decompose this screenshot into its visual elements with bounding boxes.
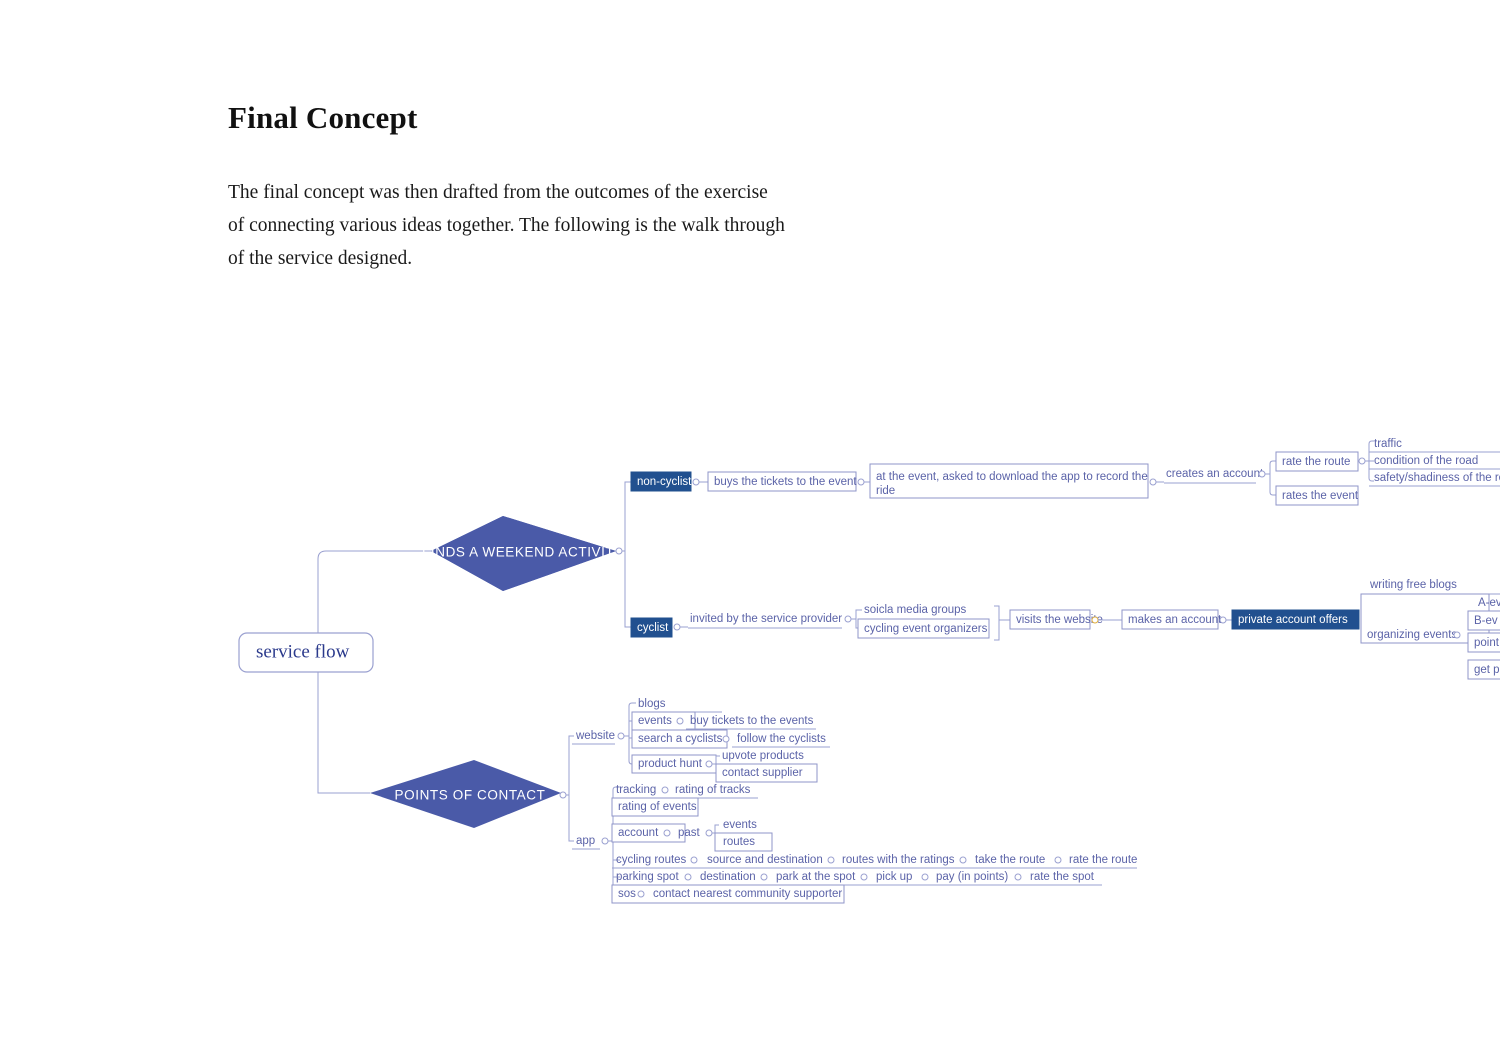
node-account[interactable]: account	[612, 824, 685, 842]
node-at-the-event[interactable]: at the event, asked to download the app …	[870, 464, 1148, 498]
node-private-account-offers-label: private account offers	[1238, 614, 1348, 626]
node-writing-free-blogs-label: writing free blogs	[1369, 579, 1457, 591]
branch-finds-a-weekend-activity[interactable]: FINDS A WEEKEND ACTIVITY	[422, 516, 624, 591]
node-cycling-event-organizers[interactable]: cycling event organizers	[858, 619, 989, 638]
connector-dot-routes-ratings	[960, 857, 966, 863]
node-buy-tickets-label: buy tickets to the events	[690, 715, 814, 727]
node-condition-of-the-road-label: condition of the road	[1374, 455, 1478, 467]
node-pay-in-points-label: pay (in points)	[936, 871, 1008, 883]
branch-label-weekend: FINDS A WEEKEND ACTIVITY	[422, 545, 624, 560]
root-node[interactable]: service flow	[239, 633, 373, 672]
node-past-events-label: events	[723, 819, 757, 831]
node-contact-supplier-label: contact supplier	[722, 767, 803, 779]
node-event-b-label: B-ev	[1474, 615, 1498, 627]
node-traffic[interactable]: traffic	[1369, 438, 1500, 452]
node-past-routes-label: routes	[723, 836, 755, 848]
node-contact-supporter-label: contact nearest community supporter	[653, 888, 842, 900]
node-account-label: account	[618, 827, 659, 839]
node-past-routes[interactable]: routes	[715, 833, 772, 851]
node-visits-the-website[interactable]: visits the website	[1010, 610, 1103, 629]
node-at-the-event-label-line2: ride	[876, 485, 895, 497]
node-rates-the-event[interactable]: rates the event	[1276, 486, 1359, 505]
connector-dot-cycling-routes	[691, 857, 697, 863]
node-social-media-groups[interactable]: soicla media groups	[858, 604, 989, 619]
connector-contact-to-website	[566, 736, 574, 795]
node-traffic-label: traffic	[1374, 438, 1402, 450]
node-website[interactable]: website	[572, 730, 615, 744]
connector-dot-organizing-events	[1454, 632, 1460, 638]
connector-dot-cyclist	[674, 624, 680, 630]
node-get-points[interactable]: get p	[1468, 660, 1500, 679]
node-upvote-products-label: upvote products	[722, 750, 804, 762]
node-sos-label: sos	[618, 888, 636, 900]
node-cycling-routes-label: cycling routes	[616, 854, 687, 866]
connector-past-to-events	[712, 825, 719, 833]
node-buys-tickets-label: buys the tickets to the event	[714, 476, 857, 488]
node-get-points-label: get p	[1474, 664, 1500, 676]
node-rating-of-tracks-label: rating of tracks	[675, 784, 751, 796]
branch-points-of-contact[interactable]: POINTS OF CONTACT	[370, 760, 561, 828]
connector-dot-contact	[560, 792, 566, 798]
connector-route-to-traffic	[1365, 441, 1374, 461]
node-rates-the-event-label: rates the event	[1282, 490, 1359, 502]
connector-dot-pick-up	[922, 874, 928, 880]
node-event-a-label: A-ev	[1478, 597, 1500, 609]
node-events-website[interactable]: events	[632, 712, 695, 730]
node-organizing-events-label: organizing events	[1367, 629, 1457, 641]
node-rating-of-events[interactable]: rating of events	[612, 798, 698, 816]
connector-account-to-rate-route	[1265, 461, 1276, 474]
connector-dot-destination	[761, 874, 767, 880]
node-past[interactable]: past	[678, 827, 701, 839]
connector-dot-app	[602, 838, 608, 844]
node-take-the-route-label: take the route	[975, 854, 1045, 866]
node-blogs-label: blogs	[638, 698, 666, 710]
node-visits-the-website-label: visits the website	[1016, 614, 1103, 626]
connector-dot-website	[618, 733, 624, 739]
connector-dot-account	[664, 830, 670, 836]
connector-dot-weekend	[616, 548, 622, 554]
connector-dot-source-dest	[828, 857, 834, 863]
connector-invited-to-social	[851, 610, 862, 619]
node-rate-the-route[interactable]: rate the route	[1276, 452, 1358, 471]
node-product-hunt[interactable]: product hunt	[632, 755, 716, 773]
connector-root-to-weekend	[318, 551, 431, 633]
connector-dot-creates-account	[1259, 471, 1265, 477]
connector-weekend-to-cyclist	[622, 551, 631, 627]
node-safety-shadiness[interactable]: safety/shadiness of the ro	[1369, 472, 1500, 486]
connector-dot-pay	[1015, 874, 1021, 880]
connector-dot-sos	[638, 891, 644, 897]
node-cycling-event-organizers-label: cycling event organizers	[864, 623, 988, 635]
node-writing-free-blogs[interactable]: writing free blogs	[1366, 579, 1500, 594]
node-social-media-label: soicla media groups	[864, 604, 967, 616]
connector-dot-buys	[858, 479, 864, 485]
root-node-label: service flow	[256, 641, 350, 662]
node-destination-label: destination	[700, 871, 756, 883]
connector-dot-events-website	[677, 718, 683, 724]
node-parking-spot-label: parking spot	[616, 871, 679, 883]
node-rating-of-events-label: rating of events	[618, 801, 697, 813]
connector-account-to-rates-event	[1265, 474, 1276, 495]
node-rate-the-spot-label: rate the spot	[1030, 871, 1095, 883]
connector-contact-to-app	[566, 795, 574, 841]
node-creates-an-account[interactable]: creates an account	[1164, 468, 1264, 483]
node-invited-by-service-provider[interactable]: invited by the service provider	[688, 613, 842, 628]
node-tracking-label: tracking	[616, 784, 656, 796]
node-source-and-destination-label: source and destination	[707, 854, 823, 866]
connector-dot-take-route	[1055, 857, 1061, 863]
connector-merge-bracket	[994, 606, 999, 640]
node-makes-an-account-label: makes an account	[1128, 614, 1222, 626]
node-safety-shadiness-label: safety/shadiness of the ro	[1374, 472, 1500, 484]
node-creates-an-account-label: creates an account	[1166, 468, 1264, 480]
connector-dot-atevent	[1150, 479, 1156, 485]
node-invited-label: invited by the service provider	[690, 613, 842, 625]
node-rate-the-route-label: rate the route	[1282, 456, 1350, 468]
node-follow-the-cyclists[interactable]: follow the cyclists	[732, 733, 830, 747]
node-search-a-cyclists[interactable]: search a cyclists	[632, 730, 727, 748]
node-past-label: past	[678, 827, 701, 839]
node-contact-supplier[interactable]: contact supplier	[716, 764, 817, 782]
connector-dot-visits-website	[1092, 617, 1098, 623]
connector-route-to-safety	[1365, 461, 1374, 481]
node-buy-tickets-to-the-events[interactable]: buy tickets to the events	[686, 715, 816, 729]
node-rate-the-route-app-label: rate the route	[1069, 854, 1137, 866]
connector-dot-parking-spot	[685, 874, 691, 880]
connector-weekend-to-noncyclist	[622, 482, 631, 551]
node-park-at-the-spot-label: park at the spot	[776, 871, 856, 883]
branch-label-contact: POINTS OF CONTACT	[395, 788, 546, 803]
node-product-hunt-label: product hunt	[638, 758, 703, 770]
connector-dot-invited	[845, 616, 851, 622]
mindmap-canvas: service flow FINDS A WEEKEND ACTIVITY no…	[0, 0, 1500, 1061]
node-points[interactable]: point	[1468, 633, 1500, 652]
node-app[interactable]: app	[572, 835, 600, 849]
node-cyclist[interactable]: cyclist	[631, 618, 672, 637]
node-private-account-offers[interactable]: private account offers	[1232, 610, 1359, 629]
connector-dot-past	[706, 830, 712, 836]
node-app-label: app	[576, 835, 595, 847]
node-points-label: point	[1474, 637, 1500, 649]
node-non-cyclist[interactable]: non-cyclist	[631, 472, 692, 491]
connector-dot-tracking	[662, 787, 668, 793]
connector-root-to-contact	[318, 672, 370, 793]
node-makes-an-account[interactable]: makes an account	[1122, 610, 1222, 629]
node-search-a-cyclists-label: search a cyclists	[638, 733, 723, 745]
node-buys-tickets[interactable]: buys the tickets to the event	[708, 472, 857, 491]
node-past-events[interactable]: events	[715, 819, 772, 833]
node-event-b[interactable]: B-ev	[1468, 611, 1500, 630]
node-website-label: website	[575, 730, 615, 742]
node-blogs[interactable]: blogs	[632, 698, 722, 712]
node-events-website-label: events	[638, 715, 672, 727]
node-pick-up-label: pick up	[876, 871, 912, 883]
connector-dot-product-hunt	[706, 761, 712, 767]
node-upvote-products[interactable]: upvote products	[716, 750, 817, 764]
connector-dot-rate-route	[1359, 458, 1365, 464]
node-non-cyclist-label: non-cyclist	[637, 476, 692, 488]
node-cyclist-label: cyclist	[637, 622, 669, 634]
connector-dot-search-cyclists	[723, 736, 729, 742]
connector-dot-noncyclist	[693, 479, 699, 485]
node-at-the-event-label-line1: at the event, asked to download the app …	[876, 471, 1148, 483]
connector-dot-park-at-spot	[861, 874, 867, 880]
node-routes-with-ratings-label: routes with the ratings	[842, 854, 955, 866]
node-follow-the-cyclists-label: follow the cyclists	[737, 733, 826, 745]
connector-dot-makes-account	[1220, 617, 1226, 623]
node-condition-of-the-road[interactable]: condition of the road	[1369, 455, 1500, 469]
